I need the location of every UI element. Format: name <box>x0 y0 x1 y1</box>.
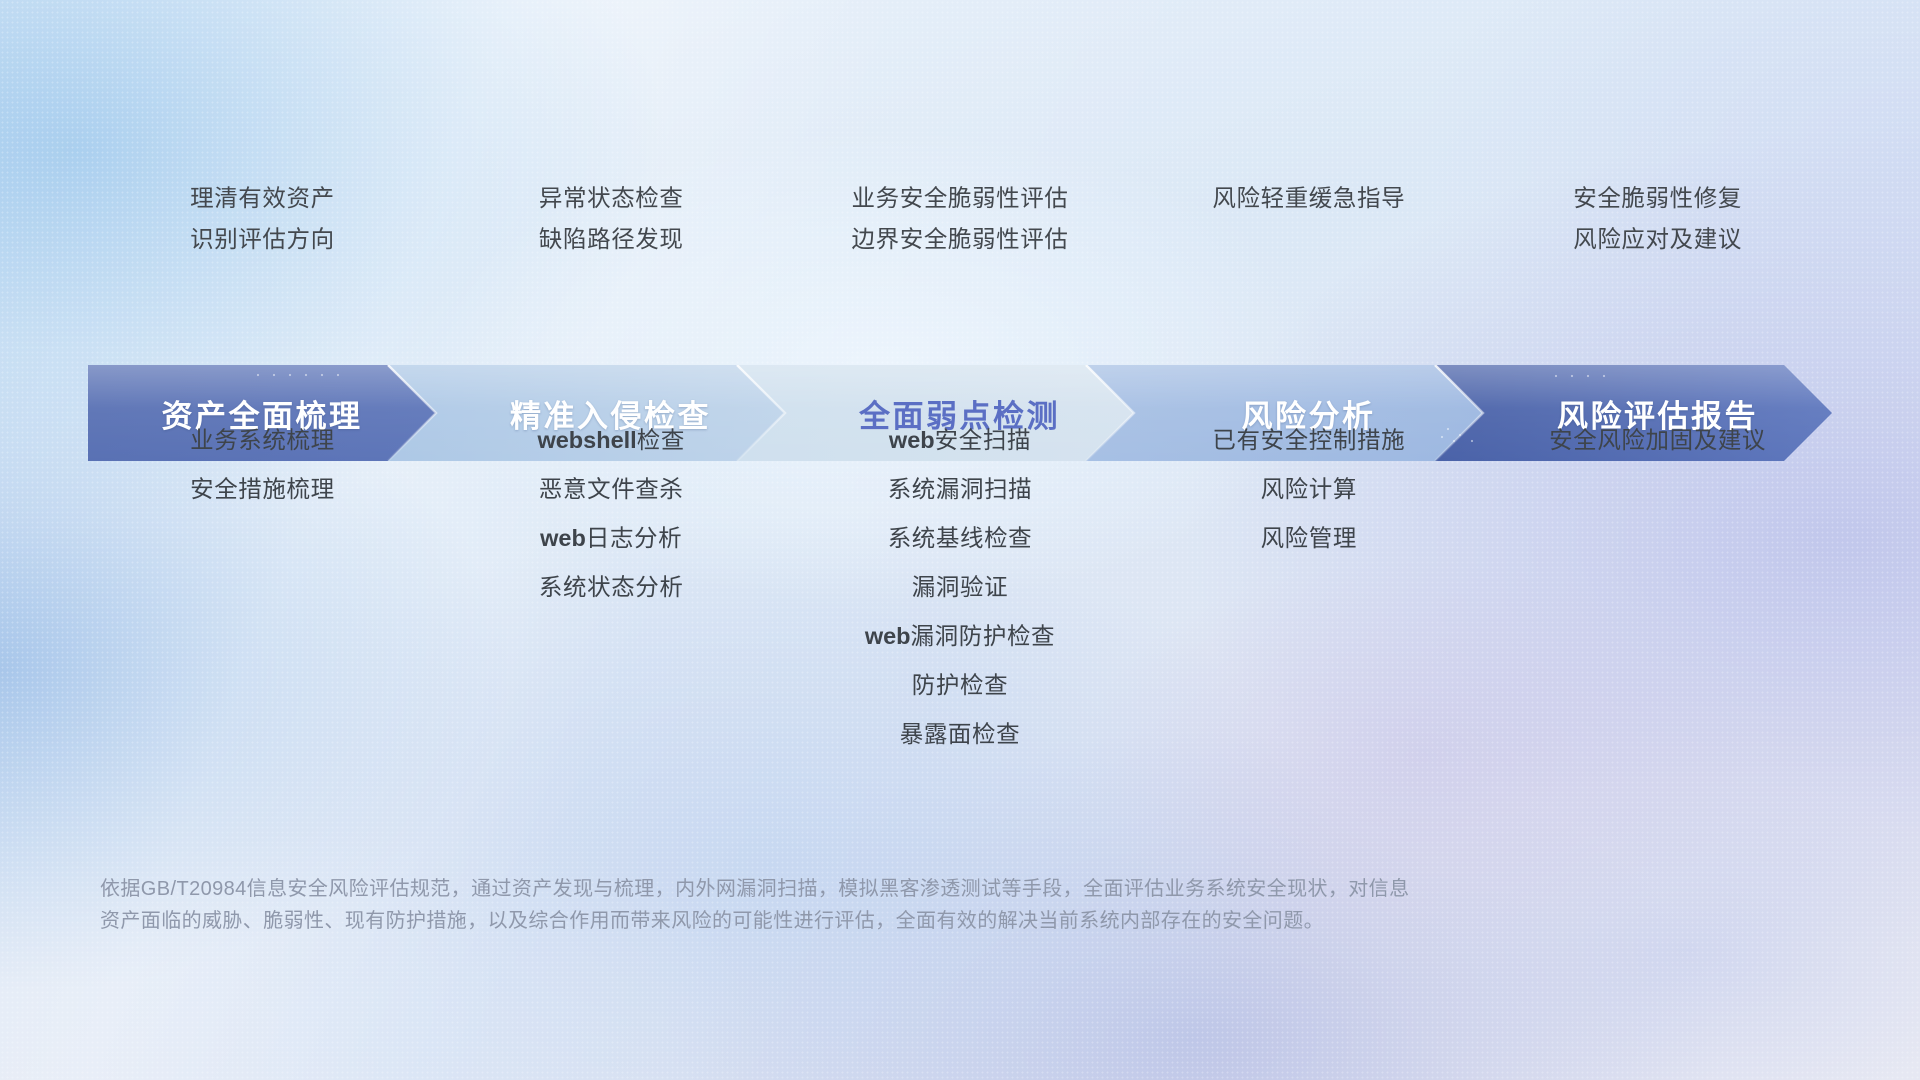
top-annotations: 理清有效资产 识别评估方向 异常状态检查 缺陷路径发现 业务安全脆弱性评估 边界… <box>88 178 1832 260</box>
top-item: 缺陷路径发现 <box>443 219 780 260</box>
bottom-column-asset-inventory: 业务系统梳理 安全措施梳理 <box>88 416 437 514</box>
list-item: 安全风险加固及建议 <box>1487 416 1828 465</box>
list-item: 系统漏洞扫描 <box>790 465 1131 514</box>
list-item-en: web <box>540 525 586 551</box>
bottom-column-risk-report: 安全风险加固及建议 <box>1483 416 1832 465</box>
list-item: 风险计算 <box>1138 465 1479 514</box>
footer-line-2: 资产面临的威胁、脆弱性、现有防护措施，以及综合作用而带来风险的可能性进行评估，全… <box>100 905 1610 937</box>
list-item: 系统基线检查 <box>790 514 1131 563</box>
list-item: webshell检查 <box>441 416 782 465</box>
footer-line-1: 依据GB/T20984信息安全风险评估规范，通过资产发现与梳理，内外网漏洞扫描，… <box>100 873 1610 905</box>
top-column-risk-report: 安全脆弱性修复 风险应对及建议 <box>1483 178 1832 260</box>
bottom-column-weakness-detection: web安全扫描 系统漏洞扫描 系统基线检查 漏洞验证 web漏洞防护检查 防护检… <box>786 416 1135 759</box>
list-item: 安全措施梳理 <box>92 465 433 514</box>
top-item: 风险应对及建议 <box>1489 219 1826 260</box>
top-item: 安全脆弱性修复 <box>1489 178 1826 219</box>
list-item: web安全扫描 <box>790 416 1131 465</box>
list-item: 暴露面检查 <box>790 710 1131 759</box>
list-item: 恶意文件查杀 <box>441 465 782 514</box>
top-item: 异常状态检查 <box>443 178 780 219</box>
top-item: 识别评估方向 <box>94 219 431 260</box>
list-item-en: web <box>865 623 911 649</box>
list-item: web漏洞防护检查 <box>790 612 1131 661</box>
top-item: 边界安全脆弱性评估 <box>792 219 1129 260</box>
list-item-en: web <box>889 427 935 453</box>
top-column-weakness-detection: 业务安全脆弱性评估 边界安全脆弱性评估 <box>786 178 1135 260</box>
bottom-column-risk-analysis: 已有安全控制措施 风险计算 风险管理 <box>1134 416 1483 563</box>
list-item-cn: 检查 <box>637 427 685 453</box>
list-item: 防护检查 <box>790 661 1131 710</box>
diagram-content: 理清有效资产 识别评估方向 异常状态检查 缺陷路径发现 业务安全脆弱性评估 边界… <box>0 0 1920 1080</box>
list-item: web日志分析 <box>441 514 782 563</box>
top-column-risk-analysis: 风险轻重缓急指导 <box>1134 178 1483 219</box>
footer-note: 依据GB/T20984信息安全风险评估规范，通过资产发现与梳理，内外网漏洞扫描，… <box>100 873 1610 937</box>
list-item: 业务系统梳理 <box>92 416 433 465</box>
top-item: 理清有效资产 <box>94 178 431 219</box>
bottom-details: 业务系统梳理 安全措施梳理 webshell检查 恶意文件查杀 web日志分析 … <box>88 416 1832 759</box>
top-column-asset-inventory: 理清有效资产 识别评估方向 <box>88 178 437 260</box>
list-item: 风险管理 <box>1138 514 1479 563</box>
top-item: 风险轻重缓急指导 <box>1140 178 1477 219</box>
list-item-cn: 安全扫描 <box>935 427 1031 453</box>
list-item: 系统状态分析 <box>441 563 782 612</box>
list-item: 已有安全控制措施 <box>1138 416 1479 465</box>
list-item: 漏洞验证 <box>790 563 1131 612</box>
list-item-cn: 日志分析 <box>586 525 682 551</box>
bottom-column-intrusion-check: webshell检查 恶意文件查杀 web日志分析 系统状态分析 <box>437 416 786 612</box>
list-item-en: webshell <box>537 427 636 453</box>
slide-canvas: 理清有效资产 识别评估方向 异常状态检查 缺陷路径发现 业务安全脆弱性评估 边界… <box>0 0 1920 1080</box>
list-item-cn: 漏洞防护检查 <box>911 623 1056 649</box>
top-column-intrusion-check: 异常状态检查 缺陷路径发现 <box>437 178 786 260</box>
top-item: 业务安全脆弱性评估 <box>792 178 1129 219</box>
